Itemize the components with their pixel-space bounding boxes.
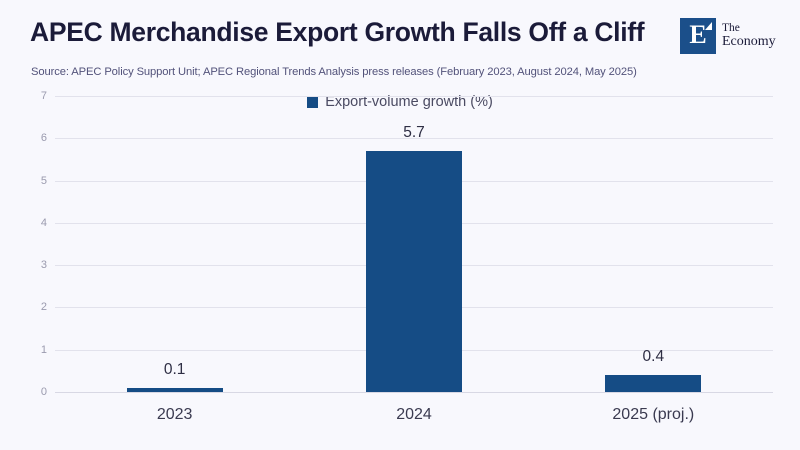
y-axis-tick-label: 0 (3, 386, 47, 398)
gridline (55, 392, 773, 393)
bar-2023[interactable] (127, 388, 223, 392)
gridline (55, 96, 773, 97)
bar-value-label: 0.4 (593, 348, 713, 366)
bar-value-label: 5.7 (354, 124, 474, 142)
y-axis-tick-label: 7 (3, 90, 47, 102)
chart-page: APEC Merchandise Export Growth Falls Off… (0, 0, 800, 450)
y-axis-tick-label: 2 (3, 301, 47, 313)
y-axis-tick-label: 5 (3, 175, 47, 187)
plot-area: 012345670.120235.720240.42025 (proj.) (55, 96, 773, 392)
bar-value-label: 0.1 (115, 361, 235, 379)
bar-chart: 012345670.120235.720240.42025 (proj.) (0, 0, 800, 450)
y-axis-tick-label: 4 (3, 217, 47, 229)
y-axis-tick-label: 6 (3, 132, 47, 144)
x-axis-tick-label: 2024 (324, 406, 504, 424)
y-axis-tick-label: 1 (3, 344, 47, 356)
bar-2025-proj-[interactable] (605, 375, 701, 392)
y-axis-tick-label: 3 (3, 259, 47, 271)
x-axis-tick-label: 2025 (proj.) (563, 406, 743, 424)
x-axis-tick-label: 2023 (85, 406, 265, 424)
bar-2024[interactable] (366, 151, 462, 392)
